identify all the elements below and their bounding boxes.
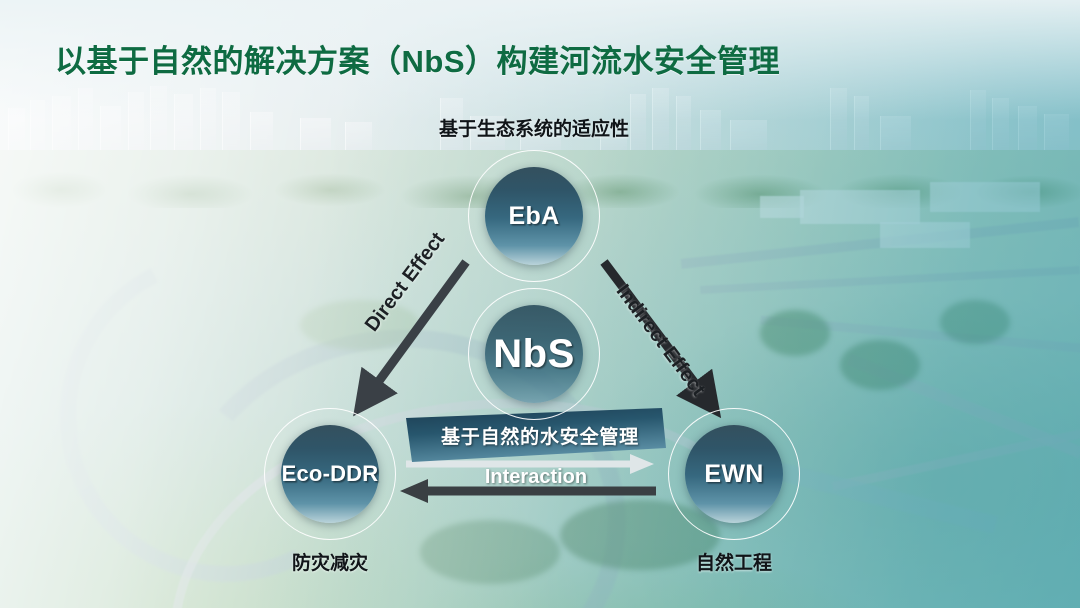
node-nbs[interactable]: NbS — [468, 288, 600, 420]
node-ewn[interactable]: EWN 自然工程 — [668, 408, 800, 540]
node-label-ewn: EWN — [668, 408, 800, 540]
nbs-diagram: Direct Effect Indirect Effect 基于自然的水安全管理… — [0, 0, 1080, 608]
node-label-nbs: NbS — [468, 288, 600, 420]
node-eba[interactable]: EbA 基于生态系统的适应性 — [468, 150, 600, 282]
node-eco-ddr[interactable]: Eco-DDR 防灾减灾 — [264, 408, 396, 540]
node-caption-eba: 基于生态系统的适应性 — [404, 114, 664, 141]
node-label-eba: EbA — [468, 150, 600, 282]
slide-canvas: 以基于自然的解决方案（NbS）构建河流水安全管理 — [0, 0, 1080, 608]
interaction-label: Interaction — [404, 466, 668, 489]
node-label-eco-ddr: Eco-DDR — [264, 408, 396, 540]
node-caption-eco-ddr: 防灾减灾 — [200, 548, 460, 575]
node-caption-ewn: 自然工程 — [604, 548, 864, 575]
